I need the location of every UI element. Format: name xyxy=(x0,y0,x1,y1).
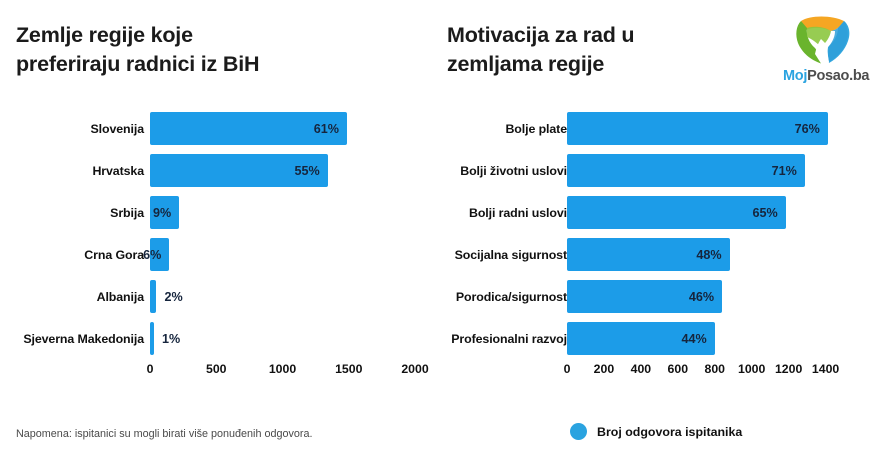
bar-category-label: Crna Gora xyxy=(6,234,144,276)
mojposao-swirl-logo-icon xyxy=(791,14,853,66)
left-chart-title: Zemlje regije koje preferiraju radnici i… xyxy=(16,21,346,78)
bar-value-label: 65% xyxy=(567,192,778,234)
x-axis-tick-label: 0 xyxy=(147,362,154,376)
bar-category-label: Slovenija xyxy=(6,108,144,150)
footnote: Napomena: ispitanici su mogli birati viš… xyxy=(16,428,313,440)
bar-category-label: Bolji životni uslovi xyxy=(442,150,567,192)
left-chart-rows: Slovenija61%Hrvatska55%Srbija9%Crna Gora… xyxy=(0,108,436,360)
bar-category-label: Hrvatska xyxy=(6,150,144,192)
logo-text-moj: Moj xyxy=(783,68,807,84)
bar-value-label: 1% xyxy=(162,318,222,360)
chart-legend: Broj odgovora ispitanika xyxy=(570,423,742,440)
x-axis-tick-label: 500 xyxy=(206,362,227,376)
x-axis-tick-label: 1000 xyxy=(738,362,765,376)
bar-value-label: 48% xyxy=(567,234,722,276)
mojposao-logo: MojPosao.ba xyxy=(783,14,861,92)
chart-bar-row: Bolje plate76% xyxy=(436,108,870,150)
chart-bar-row: Crna Gora6% xyxy=(0,234,436,276)
x-axis-tick-label: 200 xyxy=(594,362,615,376)
bar-value-label: 76% xyxy=(567,108,820,150)
left-chart-x-axis: 0500100015002000 xyxy=(0,360,436,384)
chart-bar-row: Slovenija61% xyxy=(0,108,436,150)
right-bar-chart: Bolje plate76%Bolji životni uslovi71%Bol… xyxy=(436,108,870,384)
infographic-root: Zemlje regije koje preferiraju radnici i… xyxy=(0,0,870,455)
x-axis-tick-label: 600 xyxy=(668,362,689,376)
x-axis-tick-label: 800 xyxy=(704,362,725,376)
bar-value-label: 46% xyxy=(567,276,714,318)
x-axis-tick-label: 1000 xyxy=(269,362,296,376)
bar xyxy=(150,322,154,355)
bar-value-label: 71% xyxy=(567,150,797,192)
bar-value-label: 9% xyxy=(150,192,171,234)
bar-value-label: 55% xyxy=(150,150,320,192)
logo-wordmark: MojPosao.ba xyxy=(783,68,861,84)
right-chart-x-axis: 0200400600800100012001400 xyxy=(436,360,870,384)
bar-value-label: 2% xyxy=(164,276,224,318)
bar-value-label: 61% xyxy=(150,108,339,150)
left-bar-chart: Slovenija61%Hrvatska55%Srbija9%Crna Gora… xyxy=(0,108,436,384)
right-chart-title: Motivacija za rad u zemljama regije xyxy=(447,21,777,78)
bar-value-label: 44% xyxy=(567,318,707,360)
bar-category-label: Bolji radni uslovi xyxy=(442,192,567,234)
circle-marker-icon xyxy=(570,423,587,440)
x-axis-tick-label: 1200 xyxy=(775,362,802,376)
bar-category-label: Profesionalni razvoj xyxy=(442,318,567,360)
chart-bar-row: Albanija2% xyxy=(0,276,436,318)
bar-category-label: Bolje plate xyxy=(442,108,567,150)
bar-category-label: Socijalna sigurnost xyxy=(442,234,567,276)
x-axis-tick-label: 1400 xyxy=(812,362,839,376)
legend-label: Broj odgovora ispitanika xyxy=(597,425,742,439)
chart-bar-row: Profesionalni razvoj44% xyxy=(436,318,870,360)
x-axis-tick-label: 1500 xyxy=(335,362,362,376)
bar-category-label: Albanija xyxy=(6,276,144,318)
right-chart-rows: Bolje plate76%Bolji životni uslovi71%Bol… xyxy=(436,108,870,360)
chart-bar-row: Hrvatska55% xyxy=(0,150,436,192)
chart-bar-row: Sjeverna Makedonija1% xyxy=(0,318,436,360)
x-axis-tick-label: 0 xyxy=(564,362,571,376)
chart-bar-row: Srbija9% xyxy=(0,192,436,234)
chart-bar-row: Socijalna sigurnost48% xyxy=(436,234,870,276)
x-axis-tick-label: 2000 xyxy=(401,362,428,376)
bar xyxy=(150,280,156,313)
bar-category-label: Porodica/sigurnost xyxy=(442,276,567,318)
chart-bar-row: Bolji životni uslovi71% xyxy=(436,150,870,192)
x-axis-tick-label: 400 xyxy=(631,362,652,376)
chart-bar-row: Bolji radni uslovi65% xyxy=(436,192,870,234)
chart-bar-row: Porodica/sigurnost46% xyxy=(436,276,870,318)
logo-text-posao: Posao.ba xyxy=(807,68,869,84)
bar-category-label: Srbija xyxy=(6,192,144,234)
bar-category-label: Sjeverna Makedonija xyxy=(6,318,144,360)
bar-value-label: 6% xyxy=(150,234,161,276)
